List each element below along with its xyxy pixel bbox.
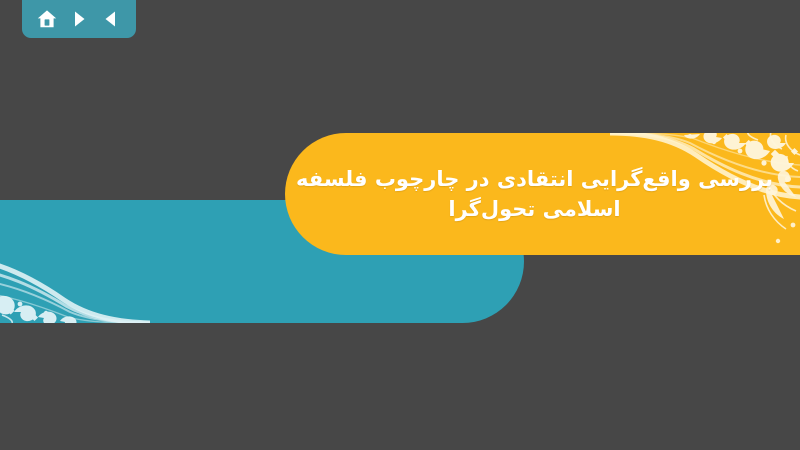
back-button[interactable] <box>98 6 124 32</box>
navigation-bar <box>22 0 136 38</box>
title-line-2: اسلامی تحول‌گرا <box>448 194 620 224</box>
home-button[interactable] <box>34 6 60 32</box>
home-icon <box>36 8 58 30</box>
teal-arabesque-ornament <box>0 200 150 323</box>
orange-title-banner: بررسی واقع‌گرایی انتقادی در چارچوب فلسفه… <box>285 133 800 255</box>
forward-button[interactable] <box>66 6 92 32</box>
title-line-1: بررسی واقع‌گرایی انتقادی در چارچوب فلسفه <box>296 164 773 194</box>
slide-title: بررسی واقع‌گرایی انتقادی در چارچوب فلسفه… <box>285 133 800 255</box>
slide-canvas: بررسی واقع‌گرایی انتقادی در چارچوب فلسفه… <box>0 0 800 450</box>
triangle-right-icon <box>69 9 89 29</box>
triangle-left-icon <box>101 9 121 29</box>
